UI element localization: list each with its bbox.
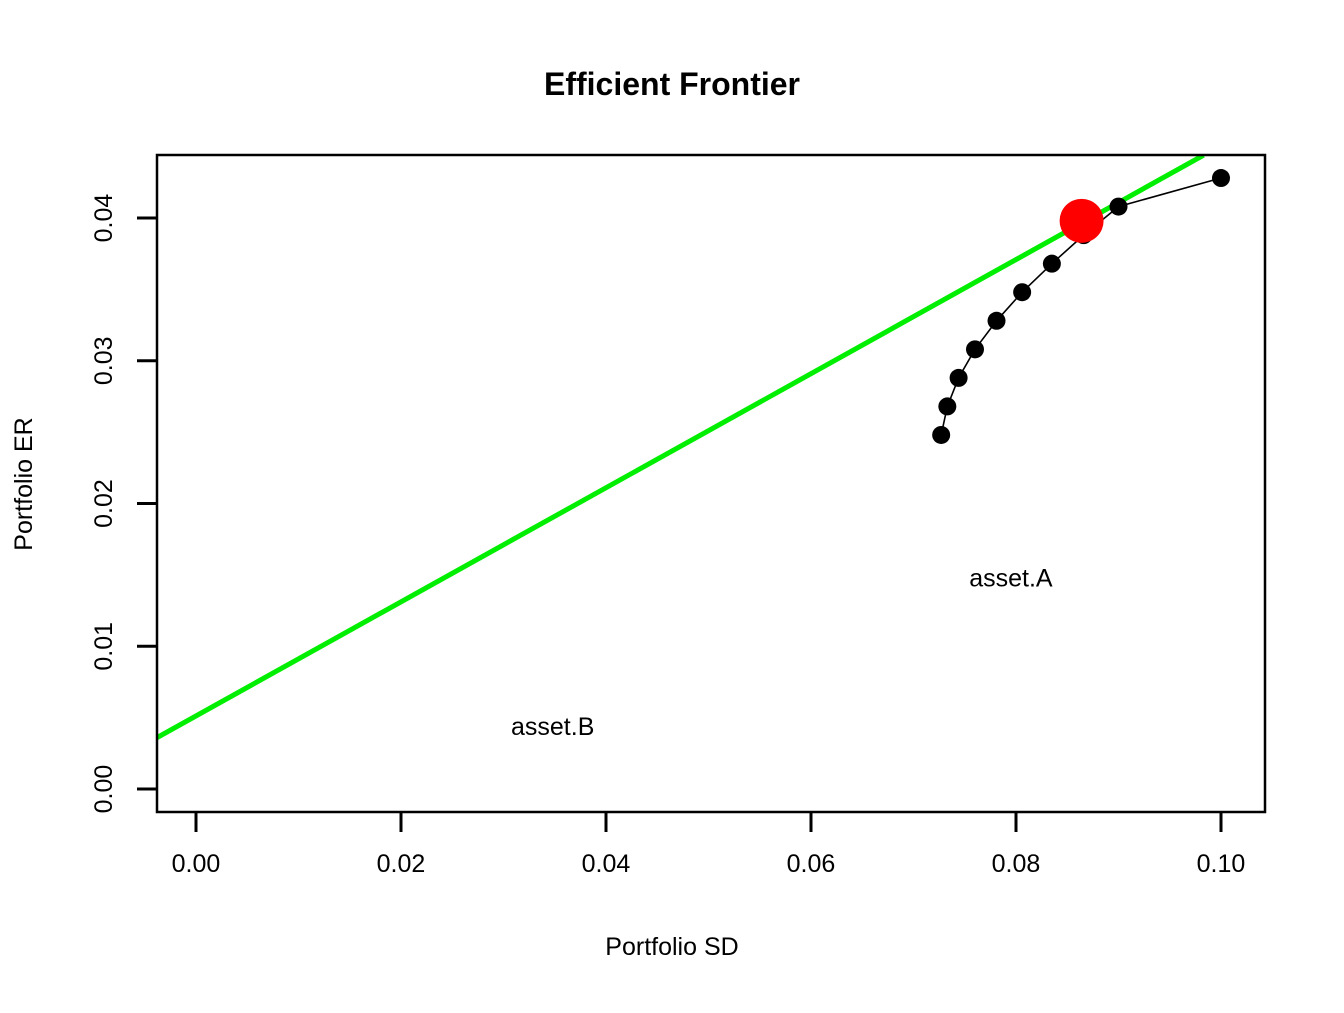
tangency-portfolio-point <box>1060 199 1104 243</box>
frontier-point <box>1212 169 1230 187</box>
frontier-point <box>932 426 950 444</box>
y-tick-label: 0.01 <box>90 622 118 671</box>
y-tick-label: 0.03 <box>90 336 118 385</box>
x-tick-label: 0.06 <box>787 850 836 878</box>
x-tick-label: 0.02 <box>377 850 426 878</box>
y-axis-title: Portfolio ER <box>10 417 38 550</box>
chart-title: Efficient Frontier <box>544 66 800 102</box>
frontier-point <box>1110 198 1128 216</box>
x-tick-label: 0.00 <box>172 850 221 878</box>
x-tick-label: 0.08 <box>992 850 1041 878</box>
frontier-point <box>1013 283 1031 301</box>
frontier-point <box>1043 255 1061 273</box>
y-tick-label: 0.02 <box>90 479 118 528</box>
x-axis-title: Portfolio SD <box>605 933 738 961</box>
asset-label-1: asset.A <box>969 564 1053 592</box>
frontier-point <box>950 369 968 387</box>
chart-canvas: Efficient Frontierasset.Aasset.B0.000.02… <box>0 0 1344 1008</box>
frontier-point <box>966 340 984 358</box>
x-tick-label: 0.10 <box>1197 850 1246 878</box>
frontier-point <box>988 312 1006 330</box>
asset-label-2: asset.B <box>511 713 594 741</box>
y-tick-label: 0.04 <box>90 194 118 243</box>
efficient-frontier-chart: Efficient Frontierasset.Aasset.B0.000.02… <box>0 0 1344 1008</box>
x-tick-label: 0.04 <box>582 850 631 878</box>
y-tick-label: 0.00 <box>90 765 118 814</box>
frontier-point <box>938 397 956 415</box>
